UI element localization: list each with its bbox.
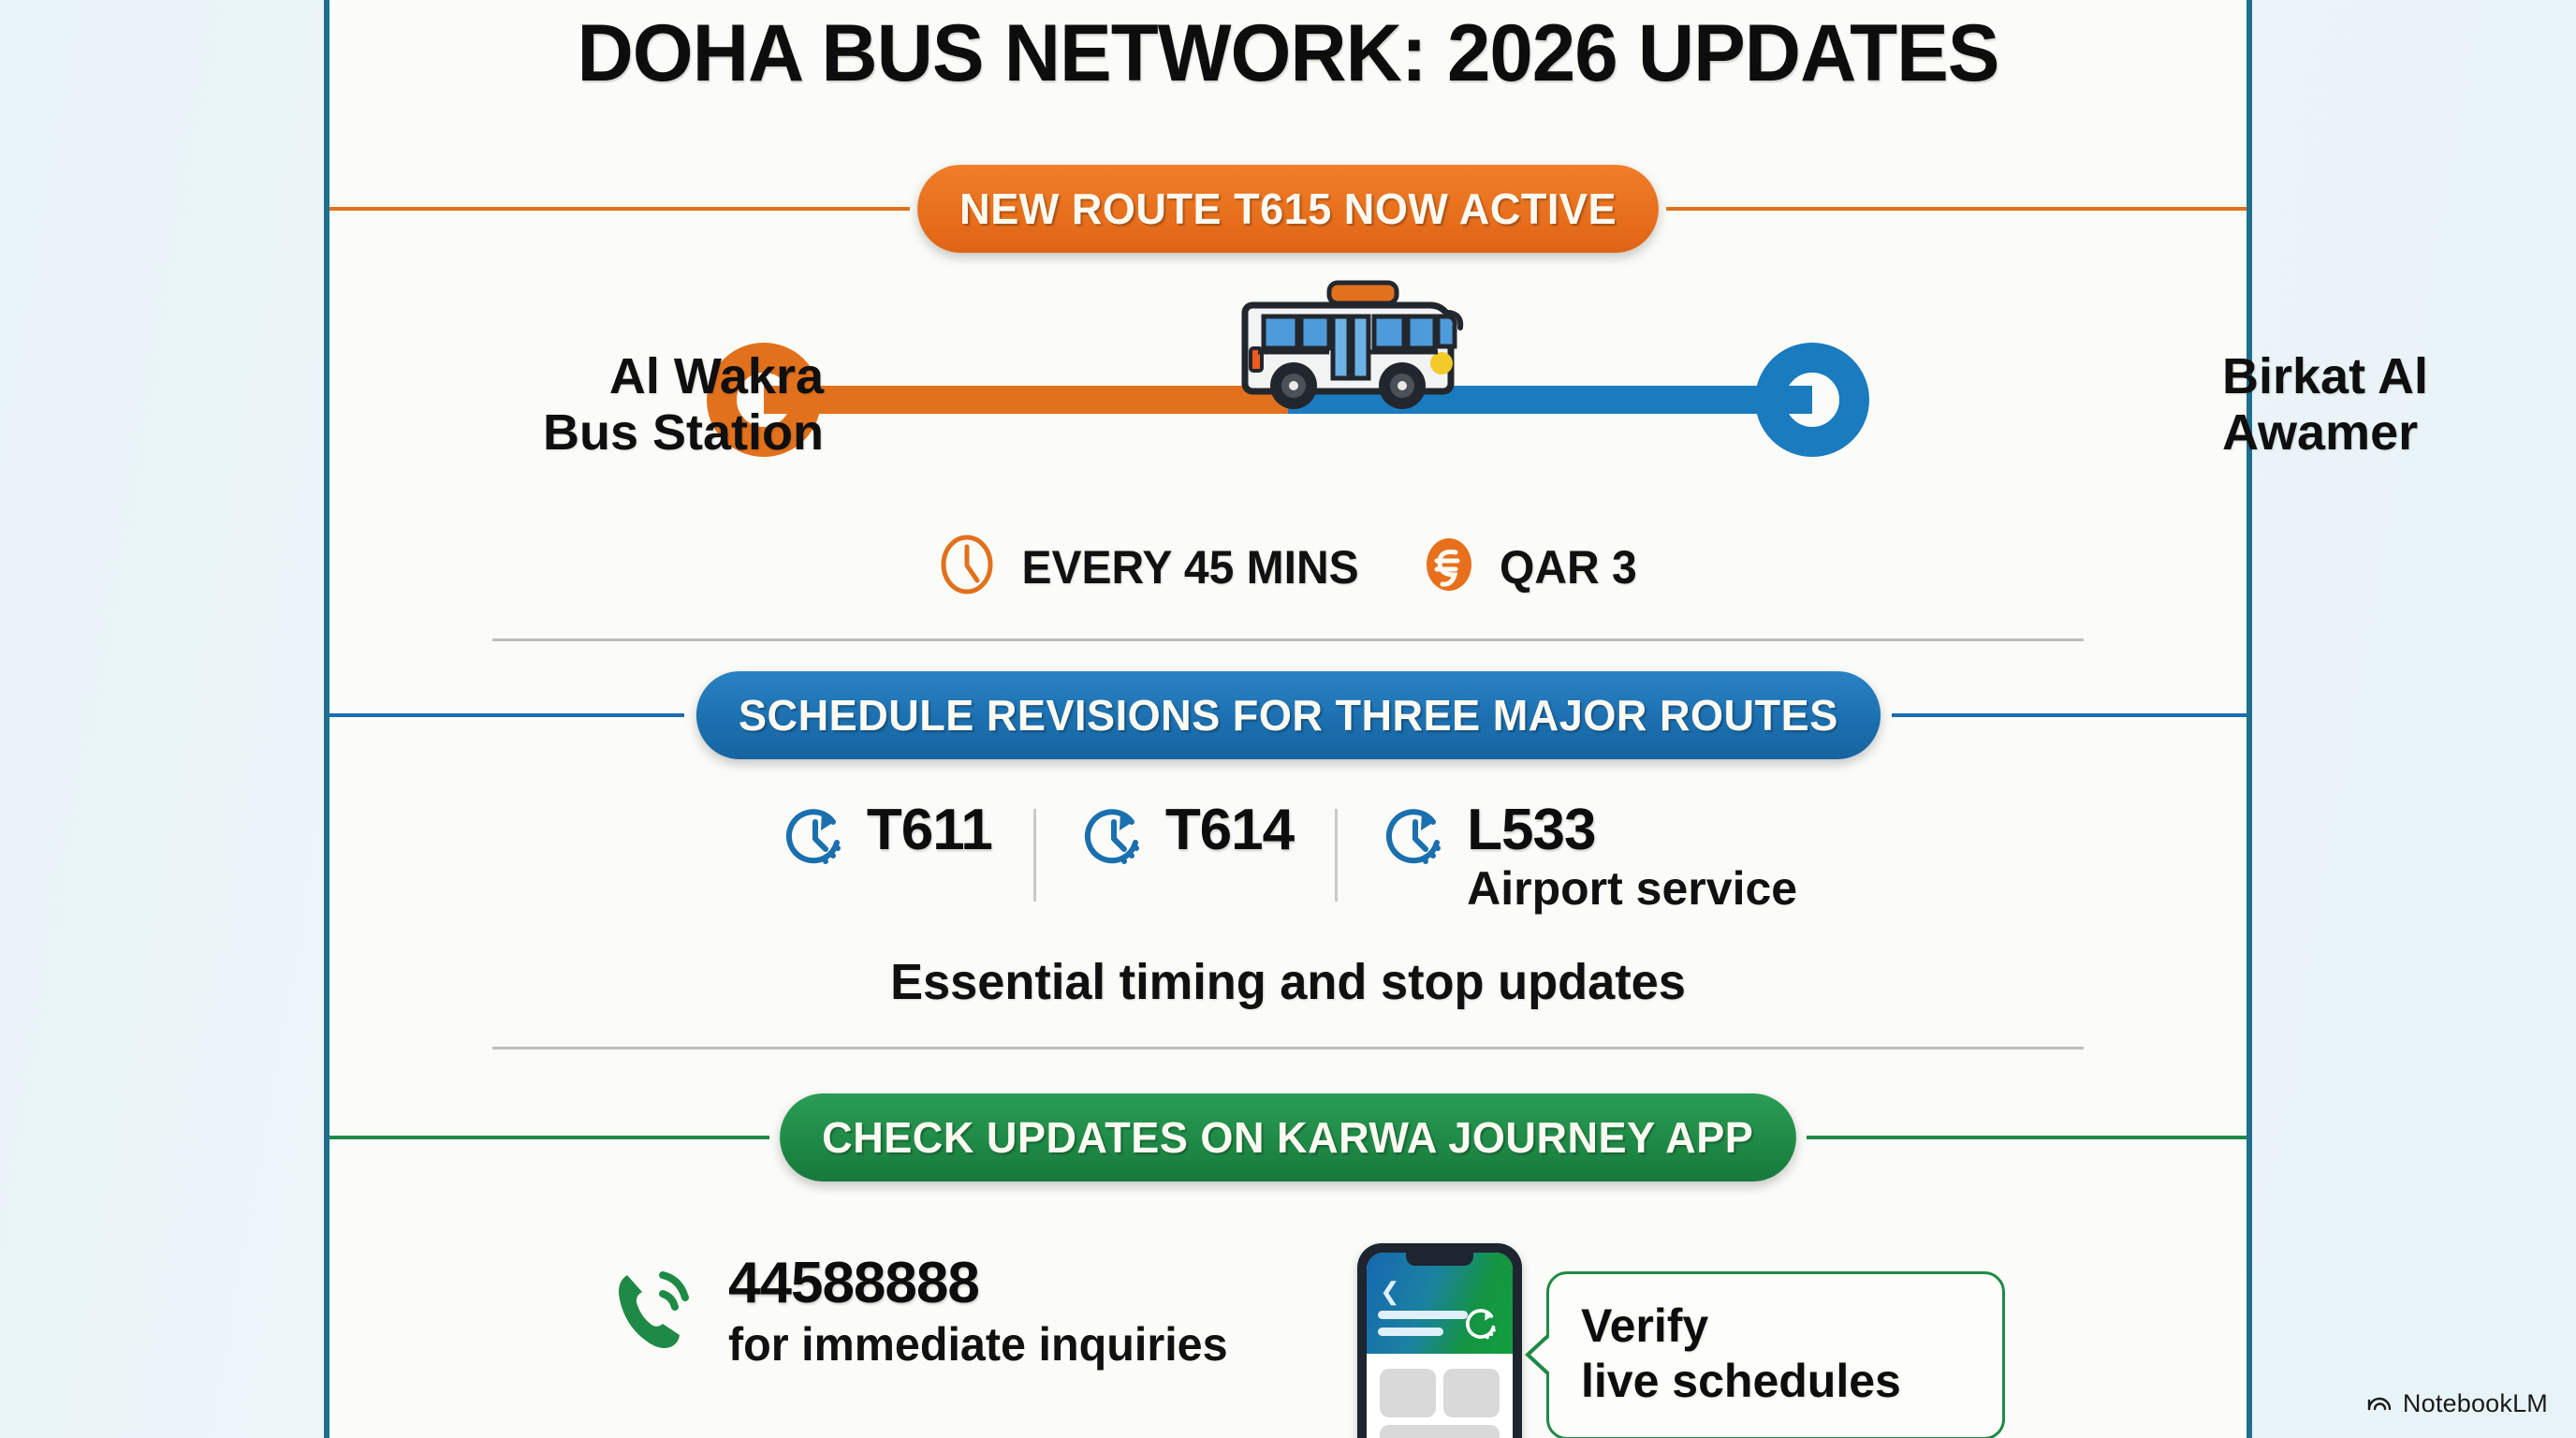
- destination-stop-node: [1755, 343, 1869, 457]
- destination-line-1: Birkat Al: [2222, 348, 2576, 404]
- phone-text-line: [1378, 1328, 1443, 1336]
- route-texts: L533 Airport service: [1467, 801, 1797, 915]
- footer-area: 44588888 for immediate inquiries ❮: [329, 1217, 2247, 1438]
- phone-call-icon: [610, 1262, 700, 1364]
- clock-refresh-icon: [1379, 801, 1452, 879]
- contact-phone-number: 44588888: [728, 1255, 1243, 1313]
- schedule-banner: SCHEDULE REVISIONS FOR THREE MAJOR ROUTE…: [696, 671, 1881, 759]
- bus-icon: [1239, 277, 1473, 432]
- phone-tile: [1443, 1369, 1500, 1417]
- route-code: T614: [1165, 801, 1294, 859]
- origin-station-label: Al Wakra Bus Station: [243, 348, 824, 462]
- app-banner-row: CHECK UPDATES ON KARWA JOURNEY APP: [329, 1093, 2247, 1181]
- schedule-note: Essential timing and stop updates: [359, 953, 2218, 1011]
- route-item-l533[interactable]: L533 Airport service: [1338, 801, 1838, 915]
- route-meta-row: EVERY 45 MINS QAR 3: [329, 534, 2247, 600]
- fare-item: QAR 3: [1418, 534, 1640, 600]
- smartphone-mockup: ❮: [1357, 1243, 1522, 1438]
- route-subtitle: Airport service: [1467, 863, 1797, 915]
- notebooklm-icon: [2365, 1387, 2393, 1421]
- banner-rule-left: [329, 207, 910, 211]
- route-code: L533: [1467, 801, 1797, 859]
- destination-station-label: Birkat Al Awamer: [2222, 348, 2576, 462]
- banner-rule-right: [1666, 207, 2247, 211]
- section-divider-2: [492, 1047, 2084, 1049]
- poster-panel: DOHA BUS NETWORK: 2026 UPDATES NEW ROUTE…: [324, 0, 2252, 1438]
- banner-rule-right: [1892, 713, 2247, 717]
- banner-rule-left: [329, 713, 684, 717]
- clock-refresh-icon: [1462, 1305, 1501, 1349]
- route-line: [764, 386, 1812, 414]
- contact-texts: 44588888 for immediate inquiries: [728, 1255, 1243, 1371]
- phone-tile-row: [1380, 1369, 1500, 1417]
- destination-line-2: Awamer: [2222, 404, 2576, 461]
- verify-bubble: Verify live schedules: [1546, 1271, 2005, 1438]
- new-route-banner: NEW ROUTE T615 NOW ACTIVE: [917, 165, 1659, 253]
- contact-block[interactable]: 44588888 for immediate inquiries: [610, 1255, 1243, 1371]
- frequency-label: EVERY 45 MINS: [1022, 540, 1359, 594]
- origin-line-2: Bus Station: [243, 404, 824, 461]
- app-banner: CHECK UPDATES ON KARWA JOURNEY APP: [780, 1093, 1795, 1181]
- phone-tile: [1380, 1369, 1436, 1417]
- chevron-left-icon[interactable]: ❮: [1380, 1279, 1400, 1303]
- clock-refresh-icon: [1077, 801, 1150, 879]
- banner-rule-left: [329, 1136, 769, 1139]
- revised-routes-row: T611 T614: [329, 801, 2247, 915]
- new-route-banner-row: NEW ROUTE T615 NOW ACTIVE: [329, 165, 2247, 253]
- phone-app-header: ❮: [1367, 1253, 1513, 1354]
- banner-rule-right: [1807, 1136, 2247, 1139]
- bubble-line-1: Verify: [1581, 1299, 1974, 1354]
- infographic-canvas: DOHA BUS NETWORK: 2026 UPDATES NEW ROUTE…: [0, 0, 2576, 1438]
- route-code: T611: [867, 801, 992, 859]
- phone-tile-wide: [1380, 1425, 1500, 1438]
- phone-screen: ❮: [1367, 1253, 1513, 1438]
- coin-riyal-icon: [1418, 534, 1480, 600]
- phone-content-area: [1372, 1361, 1507, 1438]
- route-diagram: Al Wakra Bus Station Birkat Al Awamer: [329, 281, 2247, 515]
- page-title: DOHA BUS NETWORK: 2026 UPDATES: [359, 7, 2218, 100]
- section-divider-1: [492, 638, 2084, 641]
- route-texts: T611: [867, 801, 992, 859]
- fare-label: QAR 3: [1500, 540, 1637, 594]
- route-segment-orange: [764, 386, 1288, 414]
- phone-text-line: [1378, 1311, 1468, 1319]
- route-texts: T614: [1165, 801, 1294, 859]
- bubble-text: Verify live schedules: [1581, 1299, 1974, 1409]
- route-item-t611[interactable]: T611: [738, 801, 1033, 879]
- origin-line-1: Al Wakra: [243, 348, 824, 404]
- phone-notch: [1406, 1253, 1473, 1266]
- clock-refresh-icon: [779, 801, 852, 879]
- route-item-t614[interactable]: T614: [1036, 801, 1335, 879]
- notebooklm-label: NotebookLM: [2403, 1389, 2548, 1418]
- contact-caption: for immediate inquiries: [728, 1318, 1228, 1371]
- bubble-tail-inner: [1530, 1332, 1555, 1377]
- bubble-line-2: live schedules: [1581, 1354, 1974, 1409]
- schedule-banner-row: SCHEDULE REVISIONS FOR THREE MAJOR ROUTE…: [329, 671, 2247, 759]
- frequency-item: EVERY 45 MINS: [936, 534, 1366, 600]
- notebooklm-watermark: NotebookLM: [2365, 1387, 2548, 1421]
- clock-icon: [936, 534, 998, 600]
